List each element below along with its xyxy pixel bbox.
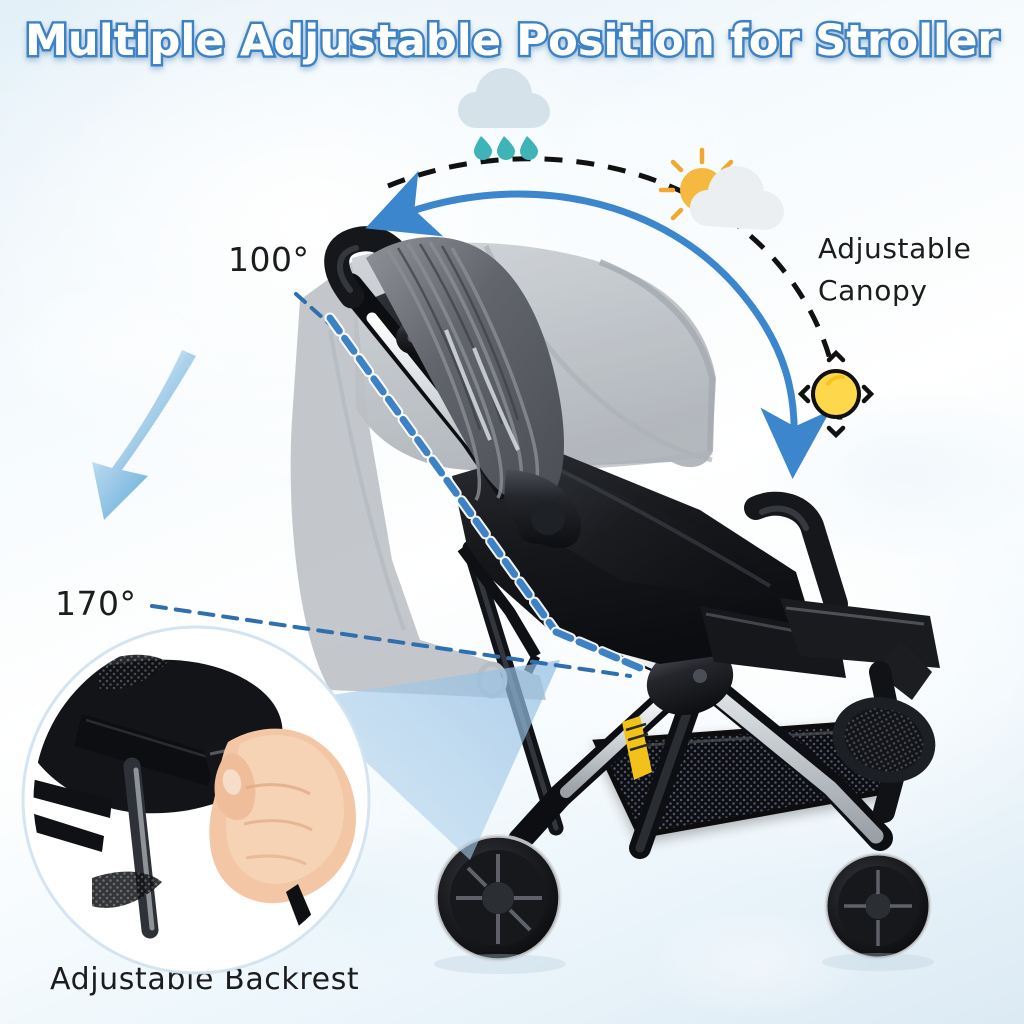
rain-cloud-icon — [458, 68, 550, 160]
sun-behind-cloud-icon — [661, 150, 784, 230]
sun-icon — [801, 353, 871, 435]
infographic-canvas: Multiple Adjustable Position for Strolle… — [0, 0, 1024, 1024]
weather-icon-group — [0, 0, 1024, 1024]
